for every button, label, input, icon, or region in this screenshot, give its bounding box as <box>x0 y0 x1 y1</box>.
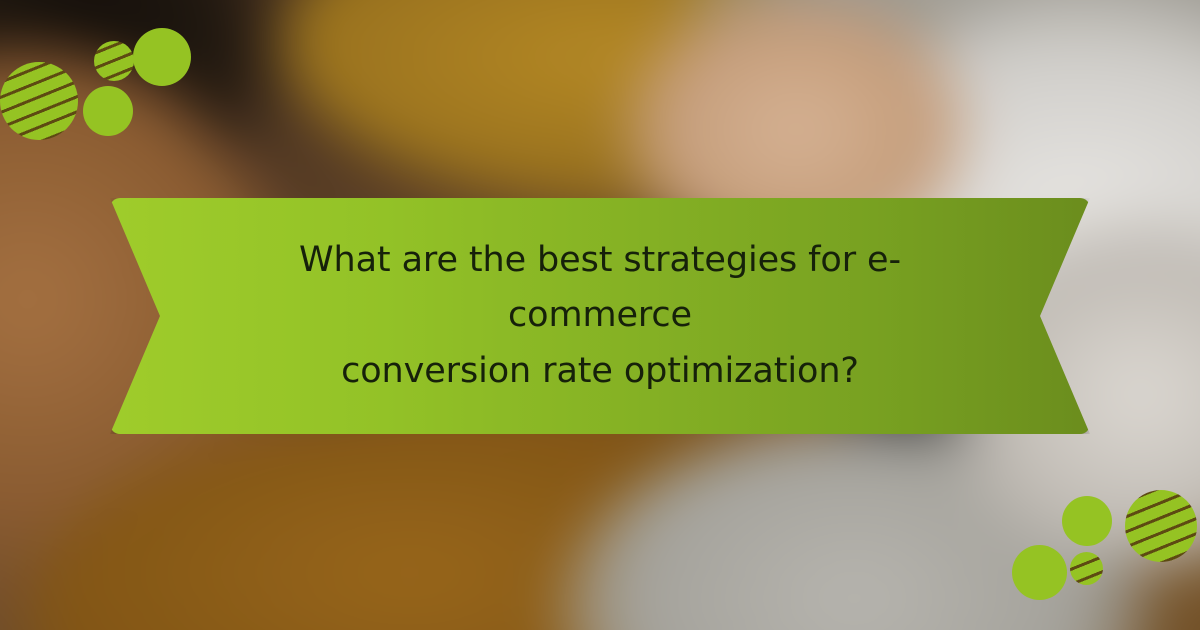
dot-solid-medium-icon <box>1062 496 1112 546</box>
dot-solid-medium-icon <box>83 86 133 136</box>
dot-striped-small-icon <box>94 41 134 81</box>
dot-striped-small-icon <box>1070 552 1103 585</box>
dot-solid-small-icon <box>1012 545 1067 600</box>
question-text: What are the best strategies for e-comme… <box>110 198 1090 434</box>
dot-striped-large-icon <box>0 62 78 140</box>
poster-canvas: What are the best strategies for e-comme… <box>0 0 1200 630</box>
dot-striped-large-icon <box>1125 490 1197 562</box>
question-banner: What are the best strategies for e-comme… <box>110 198 1090 434</box>
dot-solid-large-icon <box>133 28 191 86</box>
